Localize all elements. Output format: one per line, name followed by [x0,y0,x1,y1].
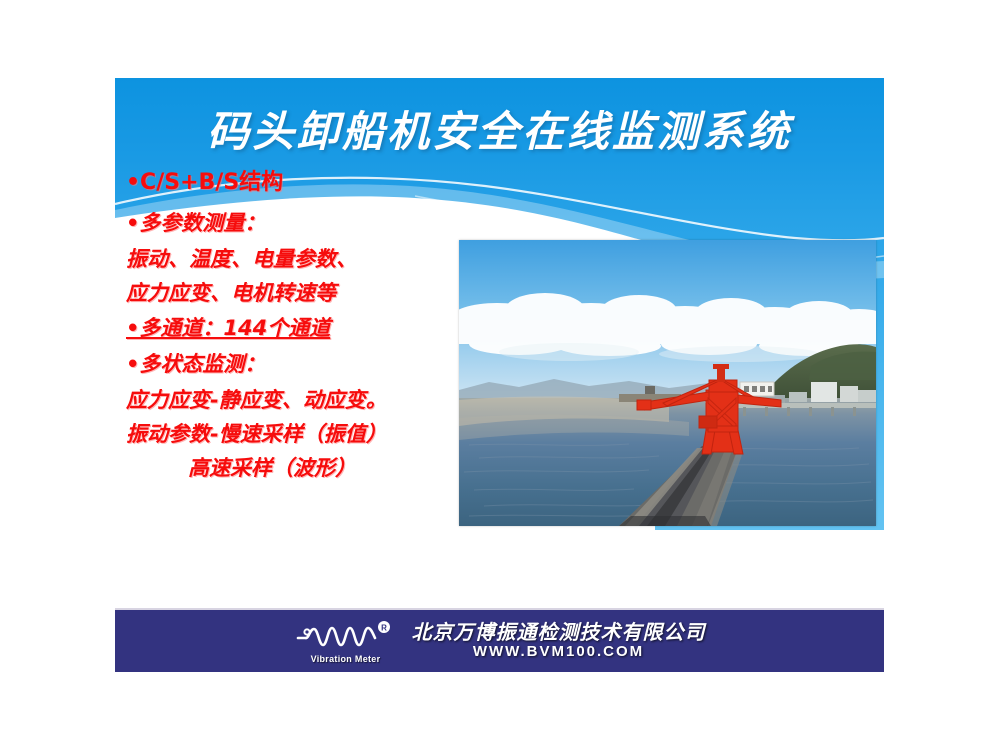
photo-illustration [459,240,876,526]
multi-parameter-line-2: 应力应变、电机转速等 [126,276,456,310]
ship-unloader-photo [459,240,876,526]
brand-logo: R Vibration Meter [294,619,398,663]
bullet-cs-bs-structure: •C/S+B/S结构 [126,168,456,198]
page-title: 码头卸船机安全在线监测系统 [115,98,884,159]
footer-content: R Vibration Meter 北京万博振通检测技术有限公司 WWW.BVM… [115,610,884,672]
footer-company-block: 北京万博振通检测技术有限公司 WWW.BVM100.COM [412,621,706,661]
vibration-meter-waveform-icon: R [294,619,398,653]
company-name: 北京万博振通检测技术有限公司 [412,621,706,643]
slide-footer: R Vibration Meter 北京万博振通检测技术有限公司 WWW.BVM… [115,608,884,672]
logo-caption: Vibration Meter [294,654,398,664]
company-website-url[interactable]: WWW.BVM100.COM [412,643,706,661]
multi-state-line-1: 应力应变-静应变、动应变。 [126,383,456,417]
svg-text:R: R [381,624,387,633]
registered-trademark-icon: R [378,621,390,633]
presentation-slide: 码头卸船机安全在线监测系统 •C/S+B/S结构 •多参数测量： 振动、温度、电… [0,0,1000,750]
bullet-multi-parameter-heading: •多参数测量： [126,208,456,239]
bullet-multi-channel: •多通道：144个通道 [126,312,456,345]
slide-body-text: •C/S+B/S结构 •多参数测量： 振动、温度、电量参数、 应力应变、电机转速… [126,168,456,485]
multi-state-line-3: 高速采样（波形） [126,451,456,485]
multi-parameter-line-1: 振动、温度、电量参数、 [126,242,456,276]
multi-state-line-2: 振动参数-慢速采样（振值） [126,417,456,451]
bullet-multi-state-heading: •多状态监测： [126,348,456,380]
